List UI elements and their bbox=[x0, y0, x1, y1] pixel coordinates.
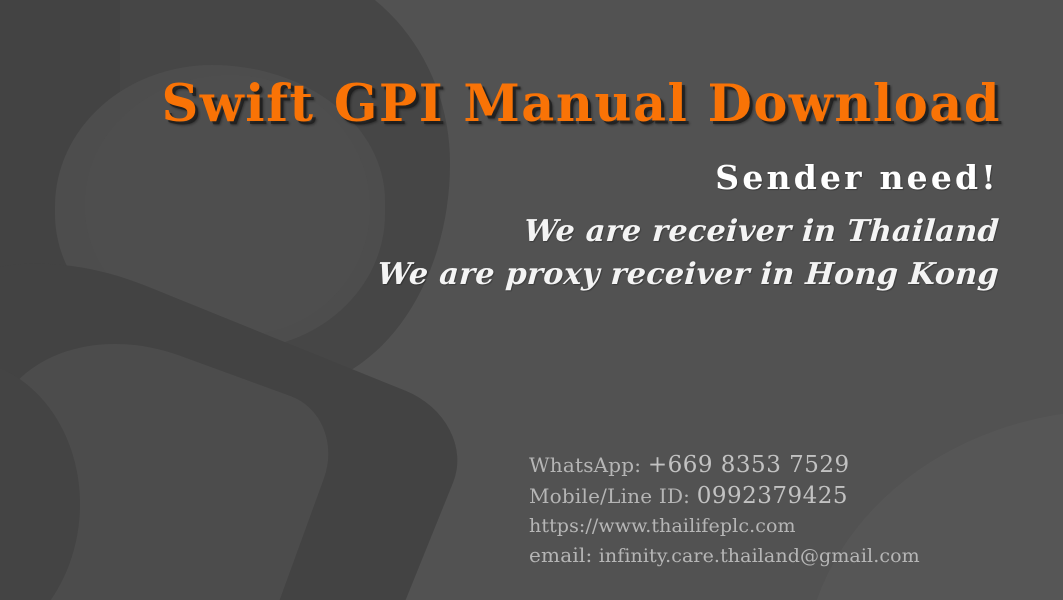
contact-website: https://www.thailifeplc.com bbox=[529, 512, 920, 541]
tagline-line-2: We are proxy receiver in Hong Kong bbox=[0, 253, 1001, 296]
contact-email: email: infinity.care.thailand@gmail.com bbox=[529, 541, 920, 571]
contact-whatsapp-value[interactable]: +669 8353 7529 bbox=[648, 452, 850, 478]
contact-website-url[interactable]: https://www.thailifeplc.com bbox=[529, 515, 796, 537]
contact-mobile-value[interactable]: 0992379425 bbox=[697, 483, 848, 509]
contact-whatsapp-label: WhatsApp: bbox=[529, 453, 641, 477]
promo-banner: Swift GPI Manual Download Sender need! W… bbox=[0, 0, 1063, 600]
contact-mobile-label: Mobile/Line ID: bbox=[529, 484, 690, 508]
tagline-block: We are receiver in Thailand We are proxy… bbox=[0, 210, 999, 296]
contact-mobile-line-id: Mobile/Line ID: 0992379425 bbox=[529, 481, 920, 512]
contact-email-label: email: bbox=[529, 543, 592, 567]
contact-email-value[interactable]: infinity.care.thailand@gmail.com bbox=[599, 545, 920, 567]
contact-whatsapp: WhatsApp: +669 8353 7529 bbox=[529, 450, 920, 481]
banner-content: Swift GPI Manual Download Sender need! W… bbox=[0, 0, 1063, 600]
banner-title: Swift GPI Manual Download bbox=[0, 78, 1001, 132]
contact-block: WhatsApp: +669 8353 7529 Mobile/Line ID:… bbox=[529, 450, 920, 571]
tagline-line-1: We are receiver in Thailand bbox=[0, 210, 1001, 253]
banner-subtitle: Sender need! bbox=[0, 158, 999, 197]
